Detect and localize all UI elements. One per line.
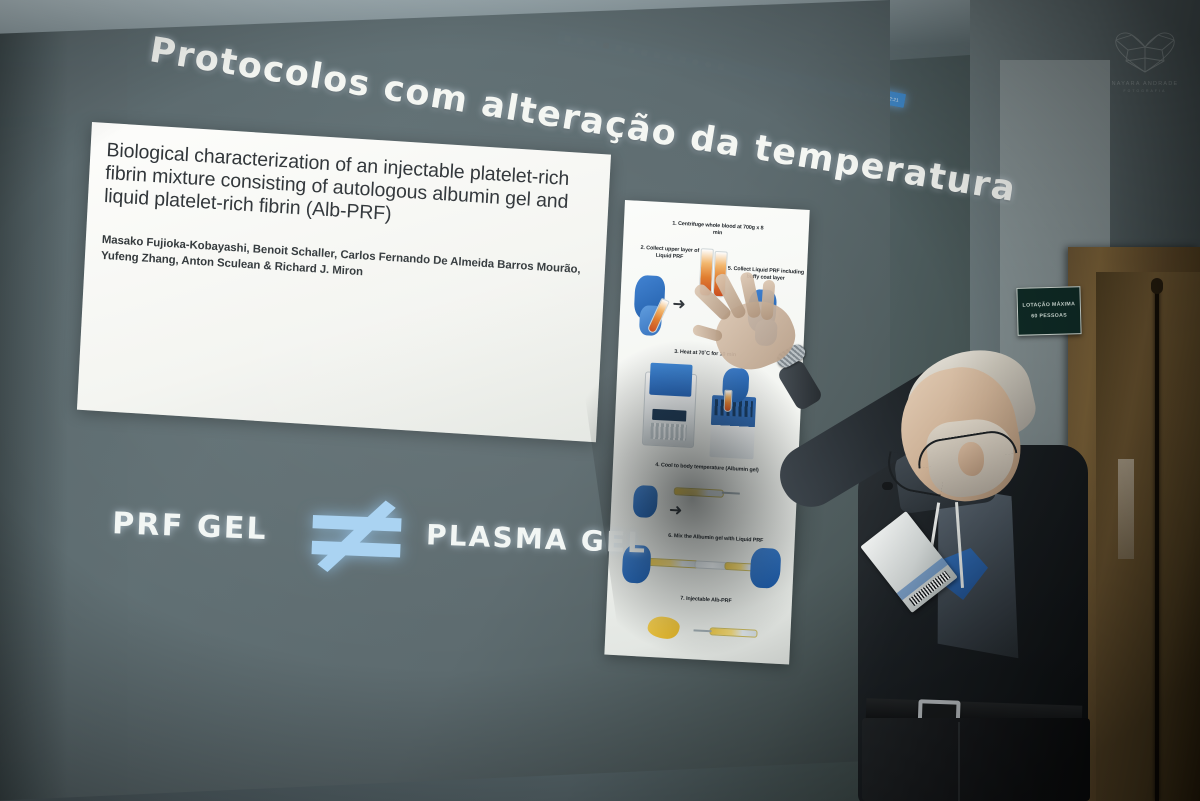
alb-prf-gel-blob xyxy=(647,616,680,640)
door-seam xyxy=(1155,282,1159,801)
heating-device xyxy=(642,371,697,448)
paper-authors: Masako Fujioka-Kobayashi, Benoit Schalle… xyxy=(101,232,586,295)
screenshot-root: LOTAÇÃO MÁXIMA 60 PESSOAS Seg, 4 de Nov … xyxy=(0,0,1200,801)
presenter-trousers xyxy=(862,718,1090,801)
plasma-gel-label: PLASMA GEL xyxy=(425,518,648,559)
gloved-hand-syringe xyxy=(633,485,658,518)
paper-title-card: Biological characterization of an inject… xyxy=(77,122,611,442)
gel-comparison-row: PRF GEL ≠ PLASMA GEL xyxy=(106,470,630,610)
headset-microphone-capsule xyxy=(882,482,893,490)
diagram-step-1-caption: 1. Centrifuge whole blood at 700g x 8 mi… xyxy=(669,220,765,239)
prf-gel-label: PRF GEL xyxy=(112,506,269,547)
diagram-step-2-caption: 2. Collect upper layer of Liquid PRF xyxy=(632,244,707,262)
heating-device-lid xyxy=(649,363,692,397)
heating-device-display xyxy=(652,409,686,422)
heating-device-keypad xyxy=(650,423,687,441)
diagram-arrow-1: ➜ xyxy=(672,297,686,314)
projection-left-falloff xyxy=(0,0,68,801)
paper-title: Biological characterization of an inject… xyxy=(104,139,591,238)
door-handle[interactable] xyxy=(1151,278,1163,294)
presenter-trouser-seam xyxy=(958,722,960,801)
presenter xyxy=(690,270,1120,801)
door-push-plate xyxy=(1118,459,1134,559)
diagram-arrow-2: ➜ xyxy=(669,503,683,520)
not-equal-icon: ≠ xyxy=(295,473,418,593)
